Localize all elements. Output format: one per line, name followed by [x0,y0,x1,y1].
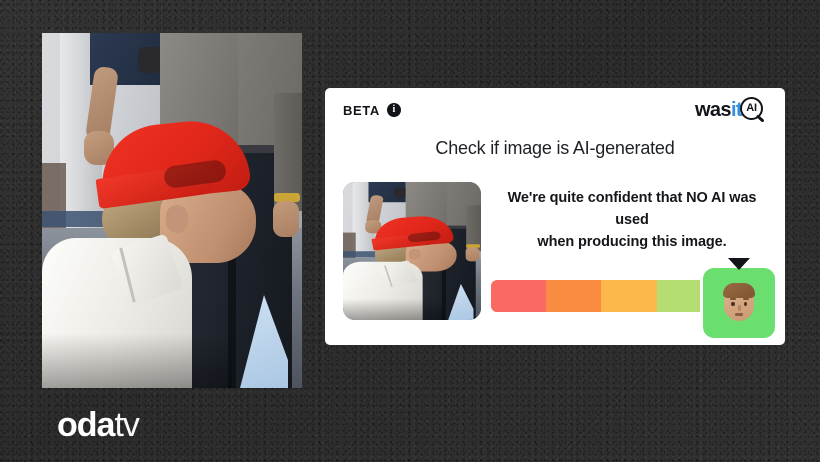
ai-detector-card: BETA i wasit AI Check if image is AI-gen… [325,88,785,345]
verdict-line-1: We're quite confident that NO AI was use… [497,188,767,232]
person-face-emoji [724,285,754,321]
main-photo [42,33,302,388]
scale-segment-likely-ai [546,280,601,312]
logo-ai-text: AI [740,97,763,120]
logo-was-text: was [695,100,731,120]
card-header: BETA i wasit AI [325,88,785,132]
analyzed-image-thumbnail[interactable] [343,182,481,320]
verdict-line-2: when producing this image. [497,232,767,254]
info-icon[interactable]: i [387,103,401,117]
watermark-light: tv [114,406,138,444]
triangle-down-pointer [728,258,750,270]
verdict-message: We're quite confident that NO AI was use… [497,182,767,253]
confidence-marker [703,268,775,338]
beta-badge: BETA i [343,103,401,118]
watermark-bold: oda [57,406,114,444]
scale-segment-uncertain [601,280,656,312]
confidence-scale [491,268,767,318]
beta-label: BETA [343,103,380,118]
page-title: Check if image is AI-generated [325,138,785,159]
magnifying-glass-icon: AI [740,97,767,124]
odatv-watermark: odatv [57,408,139,442]
wasit-ai-logo[interactable]: wasit AI [695,97,767,124]
scale-segment-very-likely-ai [491,280,546,312]
